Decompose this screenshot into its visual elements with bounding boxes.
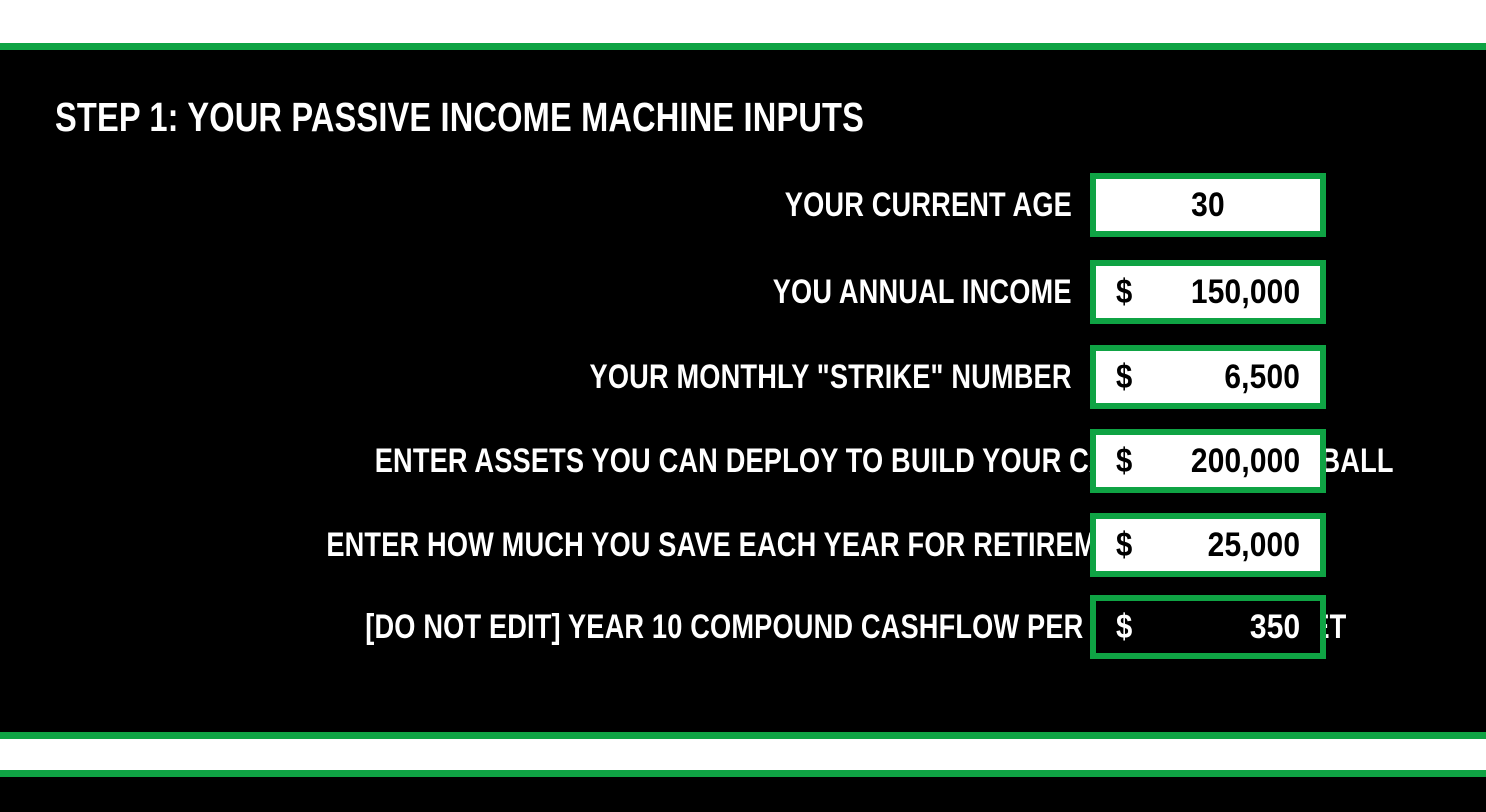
row-label-text: YOUR MONTHLY "STRIKE" NUMBER (590, 345, 1072, 409)
currency-symbol: $ (1116, 266, 1132, 318)
row-label: [DO NOT EDIT] YEAR 10 COMPOUND CASHFLOW … (120, 595, 1072, 659)
row-label-text: YOUR CURRENT AGE (785, 173, 1072, 237)
input-row: YOUR CURRENT AGE 30 (0, 173, 1486, 237)
bottom-accent-rule-upper (0, 732, 1486, 739)
input-row: [DO NOT EDIT] YEAR 10 COMPOUND CASHFLOW … (0, 595, 1486, 659)
value-field-year10-compound-cashflow: $ 350 (1090, 595, 1326, 659)
row-label-text: YOU ANNUAL INCOME (773, 260, 1072, 324)
value-text: 200,000 (1191, 435, 1300, 487)
value-field-current-age[interactable]: 30 (1090, 173, 1326, 237)
input-row: YOU ANNUAL INCOME $ 150,000 (0, 260, 1486, 324)
input-rows-group: YOUR CURRENT AGE 30 YOU ANNUAL INCOME $ … (0, 0, 1486, 812)
value-field-deployable-assets[interactable]: $ 200,000 (1090, 429, 1326, 493)
row-label: ENTER HOW MUCH YOU SAVE EACH YEAR FOR RE… (120, 513, 1072, 577)
value-text: 150,000 (1191, 266, 1300, 318)
value-field-annual-savings[interactable]: $ 25,000 (1090, 513, 1326, 577)
row-label: YOU ANNUAL INCOME (120, 260, 1072, 324)
row-label: YOUR MONTHLY "STRIKE" NUMBER (120, 345, 1072, 409)
row-label: ENTER ASSETS YOU CAN DEPLOY TO BUILD YOU… (120, 429, 1072, 493)
input-row: YOUR MONTHLY "STRIKE" NUMBER $ 6,500 (0, 345, 1486, 409)
input-row: ENTER HOW MUCH YOU SAVE EACH YEAR FOR RE… (0, 513, 1486, 577)
bottom-accent-rule-lower (0, 770, 1486, 777)
currency-symbol: $ (1116, 351, 1132, 403)
value-field-monthly-strike-number[interactable]: $ 6,500 (1090, 345, 1326, 409)
value-text: 30 (1109, 179, 1306, 231)
row-label-text: ENTER HOW MUCH YOU SAVE EACH YEAR FOR RE… (326, 513, 1151, 577)
footer-white-band (0, 739, 1486, 770)
value-text: 6,500 (1224, 351, 1300, 403)
currency-symbol: $ (1116, 601, 1132, 653)
value-field-annual-income[interactable]: $ 150,000 (1090, 260, 1326, 324)
currency-symbol: $ (1116, 435, 1132, 487)
footer-black-band (0, 777, 1486, 812)
value-text: 25,000 (1207, 519, 1300, 571)
currency-symbol: $ (1116, 519, 1132, 571)
input-row: ENTER ASSETS YOU CAN DEPLOY TO BUILD YOU… (0, 429, 1486, 493)
row-label: YOUR CURRENT AGE (120, 173, 1072, 237)
slide-canvas: STEP 1: YOUR PASSIVE INCOME MACHINE INPU… (0, 0, 1486, 812)
value-text: 350 (1250, 601, 1300, 653)
